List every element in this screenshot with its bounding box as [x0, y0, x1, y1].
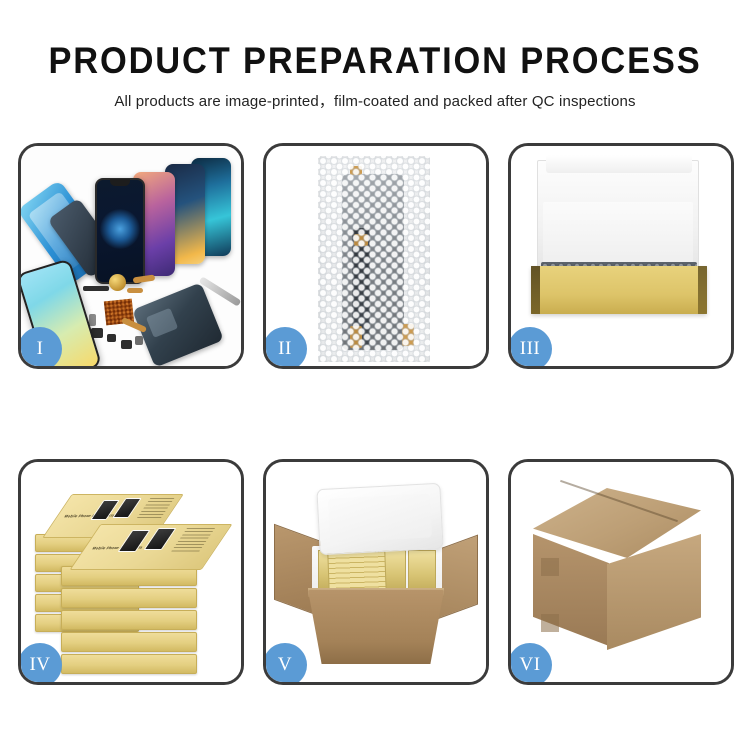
- chip-square-d: [135, 336, 143, 345]
- process-step-card-3[interactable]: III: [508, 143, 734, 369]
- page-subtitle: All products are image-printed，film-coat…: [0, 90, 750, 114]
- stack-box-front-3: [61, 610, 197, 630]
- process-step-card-5[interactable]: V: [263, 459, 489, 685]
- step-badge-4: IV: [21, 643, 62, 682]
- process-step-card-2[interactable]: II: [263, 143, 489, 369]
- phone-screen-glass-front: [95, 178, 145, 284]
- step-2-illustration: II: [266, 146, 486, 366]
- gold-coil-part: [109, 274, 126, 291]
- step-3-illustration: III: [511, 146, 731, 366]
- flex-cable-b: [127, 288, 143, 293]
- process-step-grid: I II III: [18, 143, 734, 688]
- step-1-illustration: I: [21, 146, 241, 366]
- chip-strip: [83, 286, 109, 291]
- inner-box-4: [408, 550, 436, 592]
- process-step-card-1[interactable]: I: [18, 143, 244, 369]
- process-step-card-6[interactable]: VI: [508, 459, 734, 685]
- bubble-texture: [318, 156, 430, 362]
- stacked-retail-boxes: Mobile Phone Spare Parts Mobile Phone Sp…: [31, 480, 233, 672]
- stack-box-front-5: [61, 654, 197, 674]
- step-badge-6: VI: [511, 643, 552, 682]
- page-header: PRODUCT PREPARATION PROCESS All products…: [0, 0, 750, 114]
- page-title: PRODUCT PREPARATION PROCESS: [26, 38, 724, 84]
- step-badge-2: II: [266, 327, 307, 366]
- yellow-box-base: [531, 266, 707, 314]
- carton-tape-lower: [541, 614, 559, 632]
- inner-box-group-horizontal: [327, 551, 386, 593]
- foam-lid-open: [316, 483, 443, 555]
- carton-body: [308, 590, 444, 664]
- step-5-illustration: V: [266, 462, 486, 682]
- carton-tape-upper: [541, 558, 559, 576]
- process-step-card-4[interactable]: Mobile Phone Spare Parts Mobile Phone Sp…: [18, 459, 244, 685]
- step-badge-1: I: [21, 327, 62, 366]
- bubble-wrap-bag: [318, 156, 430, 362]
- connector-part: [89, 314, 96, 326]
- step-4-illustration: Mobile Phone Spare Parts Mobile Phone Sp…: [21, 462, 241, 682]
- step-6-illustration: VI: [511, 462, 731, 682]
- stack-box-front-4: [61, 632, 197, 652]
- stack-box-front-2: [61, 588, 197, 608]
- chip-square-c: [121, 340, 132, 349]
- chip-square-b: [107, 334, 116, 342]
- step-badge-3: III: [511, 327, 552, 366]
- step-badge-5: V: [266, 643, 307, 682]
